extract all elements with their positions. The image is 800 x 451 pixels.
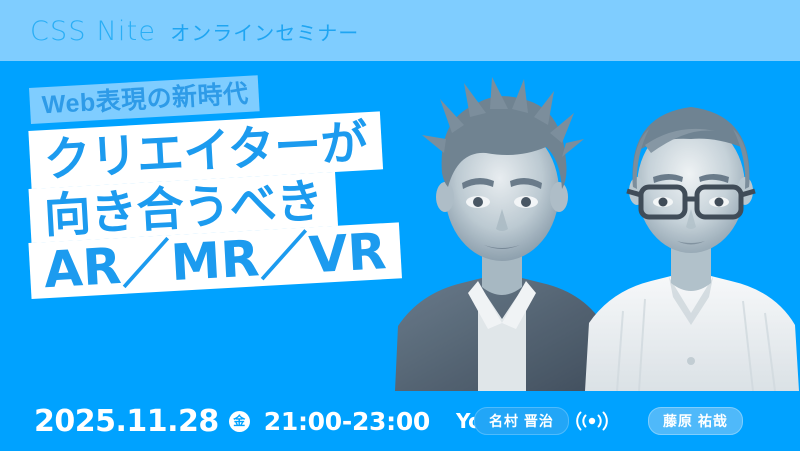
- seminar-banner: CSS Nite オンラインセミナー Web表現の新時代 クリエイターが 向き合…: [0, 0, 800, 451]
- header-strip: CSS Nite オンラインセミナー: [0, 0, 800, 61]
- live-broadcast-icon: [575, 411, 609, 431]
- eyebrow-band: Web表現の新時代: [29, 75, 259, 124]
- brand-row: CSS Nite オンラインセミナー: [30, 16, 359, 47]
- eyebrow-text: Web表現の新時代: [41, 81, 249, 118]
- brand-subtitle: オンラインセミナー: [170, 17, 359, 46]
- speaker-name-badge-1: 名村 晋治: [474, 407, 569, 435]
- title-block: Web表現の新時代 クリエイターが 向き合うべき AR／MR／VR: [0, 78, 420, 318]
- speaker-photo-fujiwara: [583, 61, 800, 391]
- weekday-badge: 金: [229, 411, 250, 432]
- speaker-photo-namura: [390, 61, 615, 391]
- speaker-name-badge-2: 藤原 祐哉: [648, 407, 743, 435]
- speaker-photos: [380, 61, 800, 391]
- event-date: 2025.11.28: [34, 404, 219, 439]
- footer-bar: 2025.11.28 金 21:00-23:00 You Tube 名村 晋治 …: [0, 391, 800, 451]
- brand-name: CSS Nite: [30, 16, 156, 47]
- event-time: 21:00-23:00: [264, 407, 430, 436]
